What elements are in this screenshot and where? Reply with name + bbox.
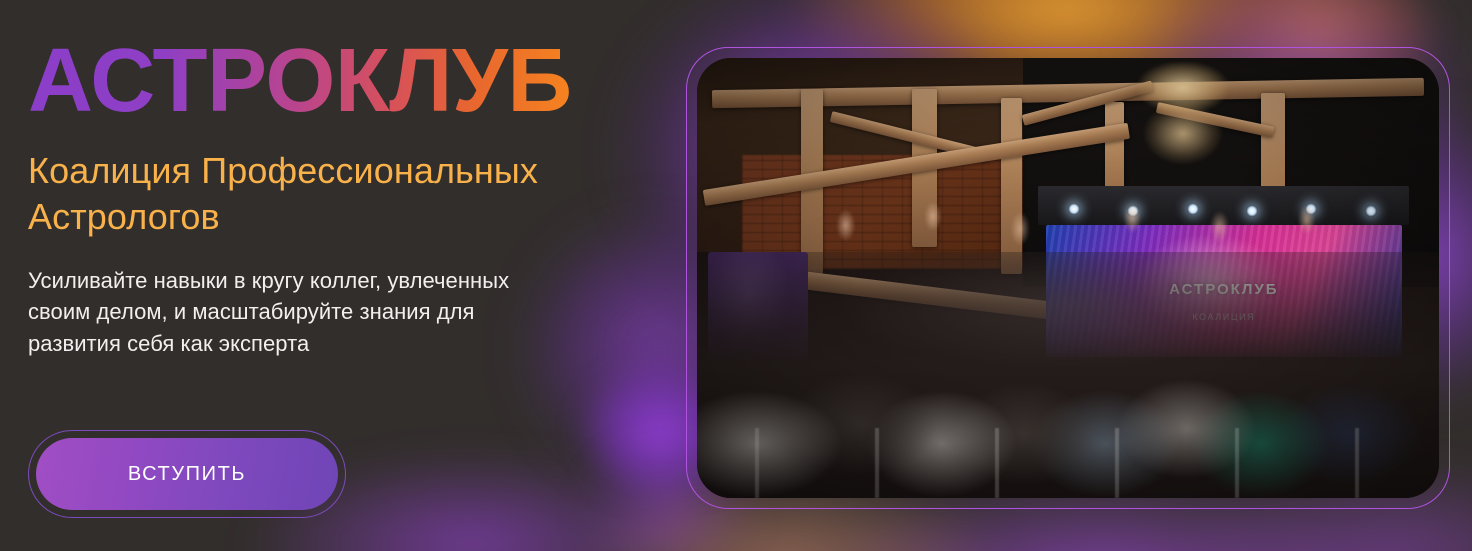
hero-banner: АСТРОКЛУБ Коалиция Профессиональных Астр… xyxy=(0,0,1472,551)
event-photo: АСТРОКЛУБ КОАЛИЦИЯ Коалиция Профессионал… xyxy=(697,58,1439,498)
cta-ring: ВСТУПИТЬ xyxy=(28,430,346,518)
hero-text-column: АСТРОКЛУБ Коалиция Профессиональных Астр… xyxy=(28,38,628,359)
photo-vignette xyxy=(697,58,1439,498)
hero-description: Усиливайте навыки в кругу коллег, увлече… xyxy=(28,265,568,359)
page-title: АСТРОКЛУБ xyxy=(28,38,628,124)
hero-photo-frame: АСТРОКЛУБ КОАЛИЦИЯ Коалиция Профессионал… xyxy=(686,47,1450,509)
hero-subtitle: Коалиция Профессиональных Астрологов xyxy=(28,148,628,239)
join-button[interactable]: ВСТУПИТЬ xyxy=(36,438,338,510)
